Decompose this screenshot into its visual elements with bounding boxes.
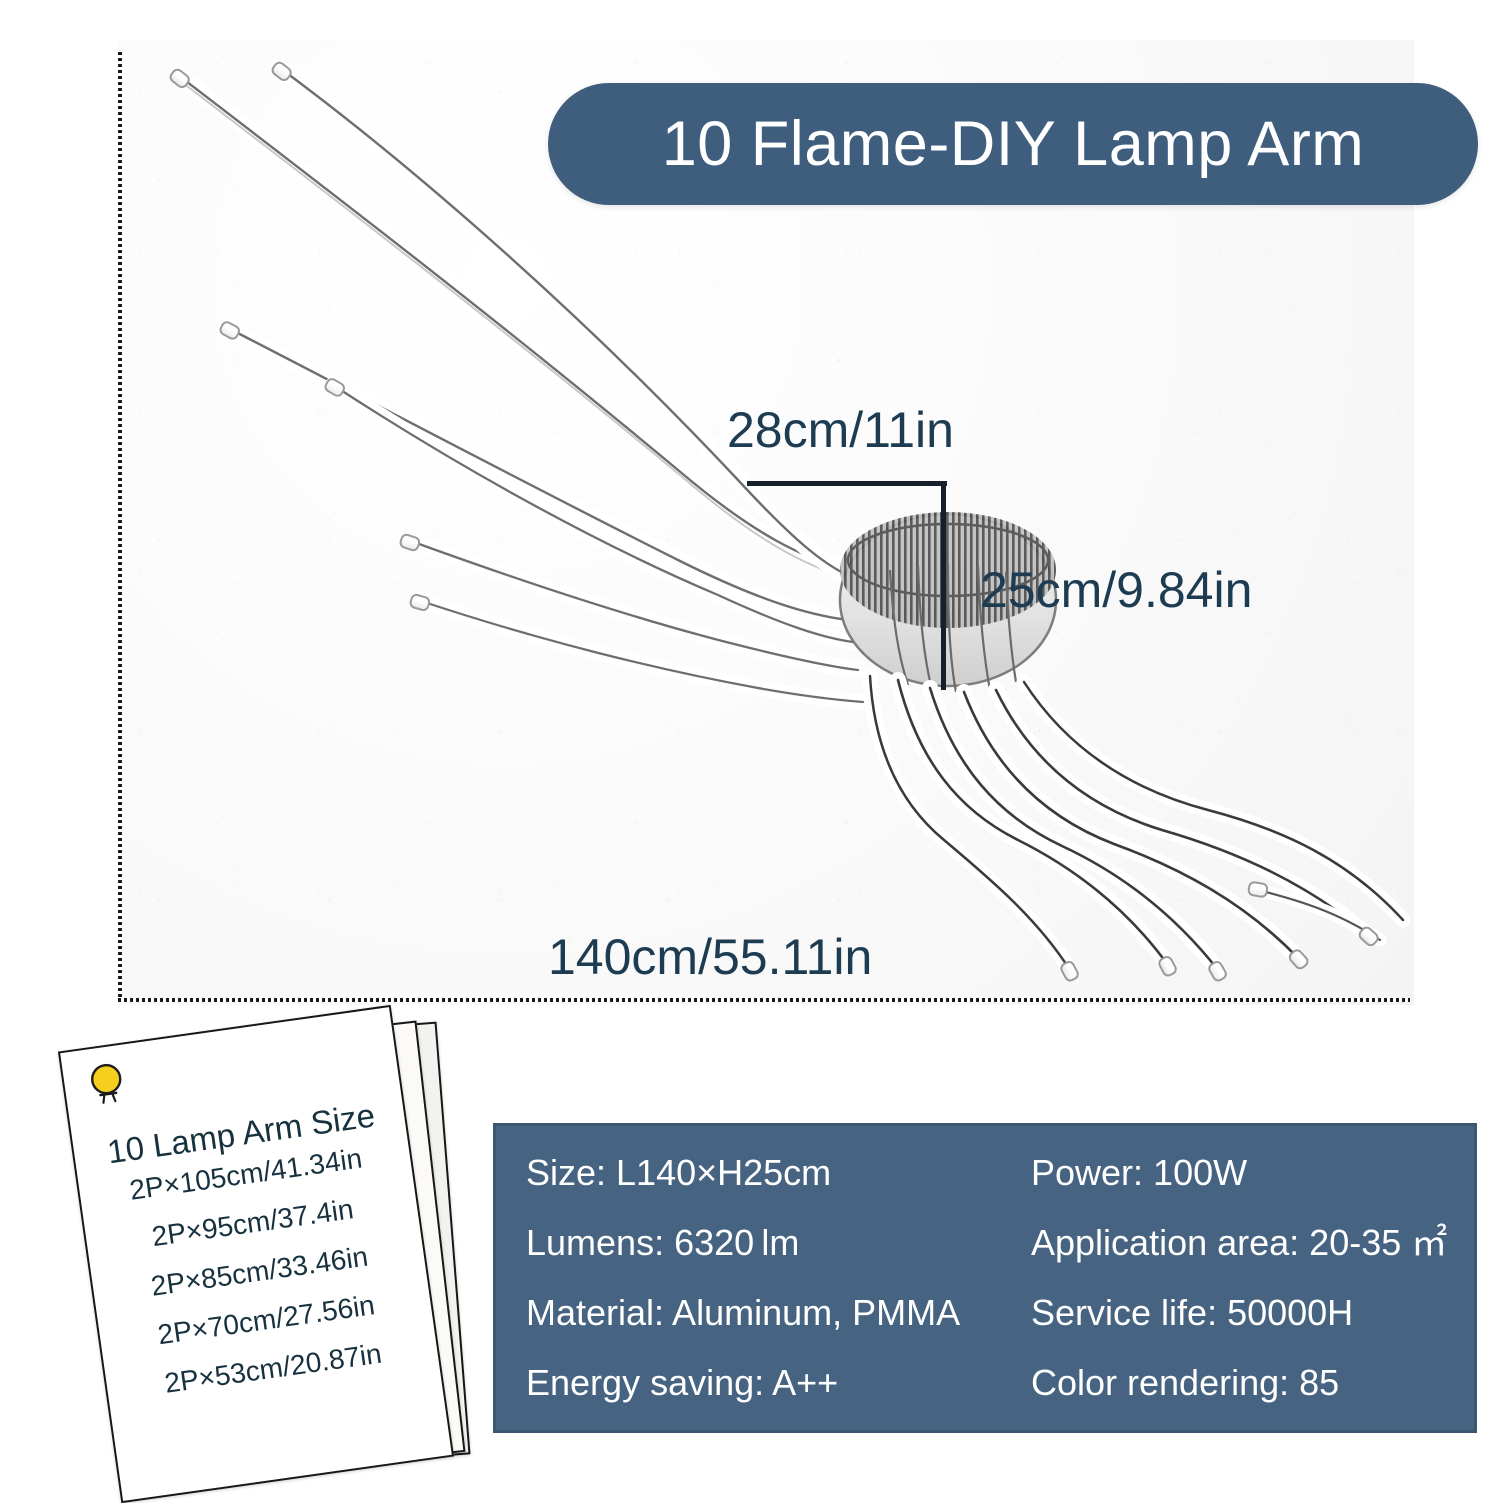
spec-color-rendering: Color rendering: 85: [985, 1348, 1474, 1418]
spec-energy-saving: Energy saving: A++: [496, 1348, 985, 1418]
dimension-label-length: 140cm/55.11in: [548, 932, 872, 982]
specification-panel: Size: L140×H25cm Power: 100W Lumens: 632…: [493, 1123, 1477, 1433]
width-measure-bar: [747, 481, 947, 486]
spec-lumens: Lumens: 6320 lm: [496, 1208, 985, 1278]
dimension-label-width: 28cm/11in: [727, 405, 954, 455]
title-banner: 10 Flame-DIY Lamp Arm: [548, 83, 1478, 205]
lightbulb-icon: [84, 1059, 130, 1110]
infographic-canvas: 28cm/11in 25cm/9.84in 140cm/55.11in 10 F…: [0, 0, 1500, 1500]
photo-frame-bottom-edge: [118, 998, 1410, 1002]
spec-size: Size: L140×H25cm: [496, 1138, 985, 1208]
page-title: 10 Flame-DIY Lamp Arm: [662, 113, 1365, 176]
spec-application-area: Application area: 20-35 ㎡: [985, 1208, 1474, 1278]
height-measure-bar: [941, 481, 946, 690]
photo-frame-left-edge: [118, 52, 122, 1002]
spec-material: Material: Aluminum, PMMA: [496, 1278, 985, 1348]
lamp-arm-size-card: 10 Lamp Arm Size 2P×105cm/41.34in 2P×95c…: [78, 1018, 478, 1488]
spec-power: Power: 100W: [985, 1138, 1474, 1208]
dimension-label-height: 25cm/9.84in: [980, 565, 1252, 615]
spec-service-life: Service life: 50000H: [985, 1278, 1474, 1348]
paper-sheet-front: 10 Lamp Arm Size 2P×105cm/41.34in 2P×95c…: [58, 1005, 454, 1503]
size-card-list: 2P×105cm/41.34in 2P×95cm/37.4in 2P×85cm/…: [84, 1138, 437, 1425]
